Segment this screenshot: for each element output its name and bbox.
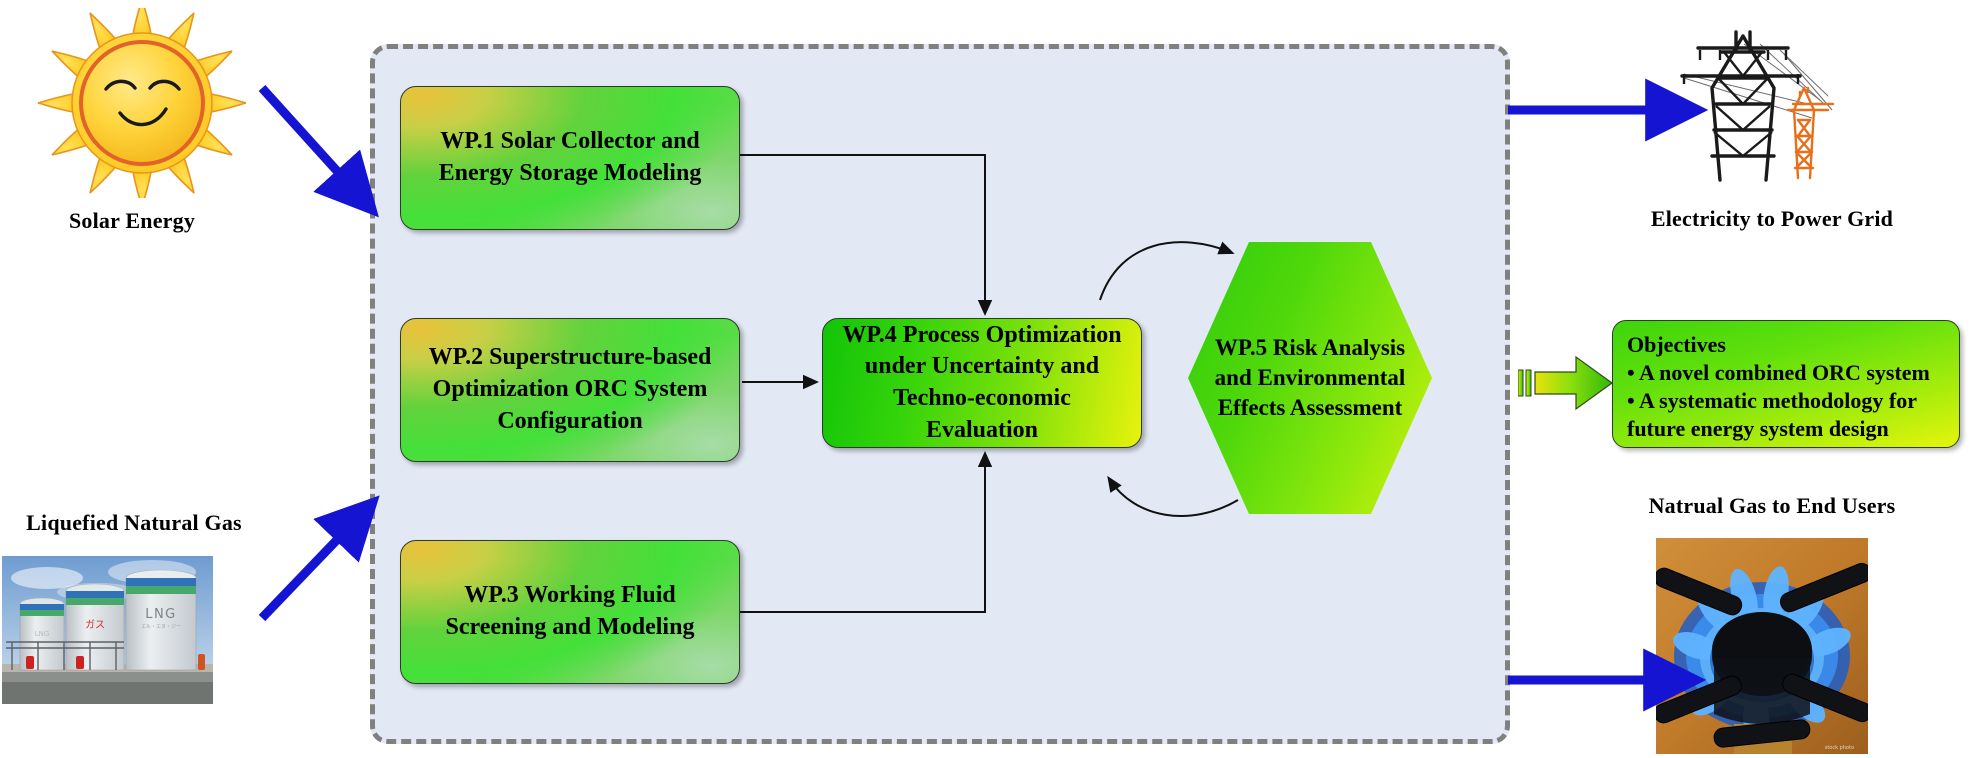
natural-gas-output-label: Natrual Gas to End Users xyxy=(1636,493,1908,519)
sun-icon xyxy=(28,8,256,198)
arrow-lng-to-container xyxy=(262,520,356,618)
svg-text:stock photo: stock photo xyxy=(1825,745,1854,751)
arrow-solar-to-container xyxy=(262,88,356,192)
lng-storage-tanks-photo: LNG ガス LNG エル・エヌ・ジー xyxy=(2,556,213,704)
wp5-hexagon[interactable]: WP.5 Risk Analysis and Environmental Eff… xyxy=(1188,242,1432,514)
svg-text:ガス: ガス xyxy=(85,619,105,631)
wp4-box[interactable]: WP.4 Process Optimization under Uncertai… xyxy=(822,318,1142,448)
svg-text:LNG: LNG xyxy=(145,607,177,622)
svg-text:エル・エヌ・ジー: エル・エヌ・ジー xyxy=(141,624,181,630)
lng-label: Liquefied Natural Gas xyxy=(0,510,268,536)
wp5-label: WP.5 Risk Analysis and Environmental Eff… xyxy=(1188,242,1432,514)
objective-item-2-cont: future energy system design xyxy=(1627,415,1947,443)
svg-text:LNG: LNG xyxy=(35,630,50,638)
wp4-label: WP.4 Process Optimization under Uncertai… xyxy=(837,320,1127,447)
diagram-canvas: Solar Energy xyxy=(0,0,1973,758)
objective-item-1: • A novel combined ORC system xyxy=(1627,359,1947,387)
solar-energy-label: Solar Energy xyxy=(12,208,252,234)
wp1-label: WP.1 Solar Collector and Energy Storage … xyxy=(415,126,725,189)
wp3-label: WP.3 Working Fluid Screening and Modelin… xyxy=(415,580,725,643)
objectives-block-arrow-icon xyxy=(1518,352,1614,414)
wp2-label: WP.2 Superstructure-based Optimization O… xyxy=(415,342,725,437)
objective-item-2: • A systematic methodology for xyxy=(1627,387,1947,415)
electricity-output-label: Electricity to Power Grid xyxy=(1636,206,1908,232)
wp2-box[interactable]: WP.2 Superstructure-based Optimization O… xyxy=(400,318,740,462)
objectives-heading: Objectives xyxy=(1627,331,1947,359)
power-transmission-tower-icon xyxy=(1648,18,1858,190)
objectives-box[interactable]: Objectives • A novel combined ORC system… xyxy=(1612,320,1960,448)
wp1-box[interactable]: WP.1 Solar Collector and Energy Storage … xyxy=(400,86,740,230)
gas-stove-flame-photo: stock photo xyxy=(1656,538,1868,754)
wp3-box[interactable]: WP.3 Working Fluid Screening and Modelin… xyxy=(400,540,740,684)
